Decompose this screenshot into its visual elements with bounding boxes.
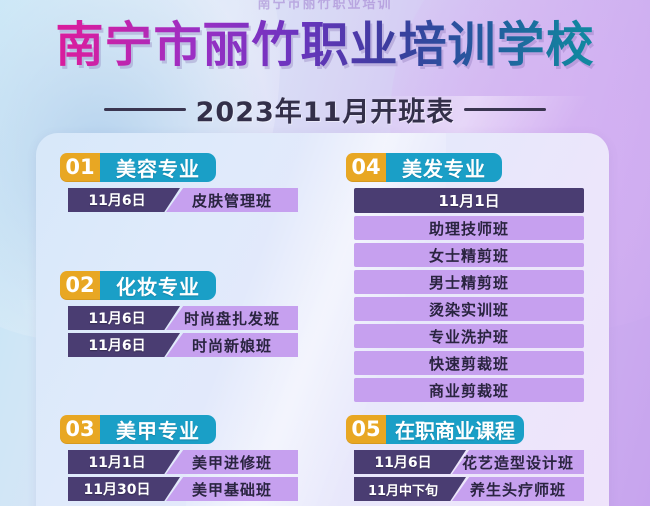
- table-row[interactable]: 11月6日 时尚盘扎发班: [68, 306, 298, 330]
- section-01: 01 美容专业 11月6日 皮肤管理班: [60, 153, 312, 215]
- row-course: 美甲基础班: [166, 477, 298, 501]
- section-04: 04 美发专业 11月1日 助理技师班 女士精剪班 男士精剪班 烫染实训班 专业…: [346, 153, 598, 405]
- section-05: 05 在职商业课程 11月6日 花艺造型设计班 11月中下旬 养生头疗师班: [346, 415, 598, 504]
- row-course: 花艺造型设计班: [452, 450, 584, 474]
- table-row[interactable]: 11月中下旬 养生头疗师班: [354, 477, 584, 501]
- list-item[interactable]: 女士精剪班: [354, 243, 584, 267]
- section-01-number: 01: [60, 153, 100, 182]
- list-item[interactable]: 烫染实训班: [354, 297, 584, 321]
- subtitle-group: 2023年11月开班表: [0, 90, 650, 129]
- row-date: 11月30日: [68, 477, 180, 501]
- list-item[interactable]: 快速剪裁班: [354, 351, 584, 375]
- row-date: 11月6日: [68, 306, 180, 330]
- row-course: 时尚盘扎发班: [166, 306, 298, 330]
- list-item[interactable]: 商业剪裁班: [354, 378, 584, 402]
- table-row[interactable]: 11月1日 美甲进修班: [68, 450, 298, 474]
- list-item[interactable]: 男士精剪班: [354, 270, 584, 294]
- row-date: 11月6日: [68, 188, 180, 212]
- section-03-number: 03: [60, 415, 100, 444]
- section-02-rows: 11月6日 时尚盘扎发班 11月6日 时尚新娘班: [60, 306, 312, 357]
- section-04-rows: 11月1日 助理技师班 女士精剪班 男士精剪班 烫染实训班 专业洗护班 快速剪裁…: [346, 188, 598, 402]
- page-title: 南宁市丽竹职业培训学校: [0, 16, 650, 74]
- row-course: 美甲进修班: [166, 450, 298, 474]
- row-date: 11月中下旬: [354, 477, 466, 501]
- section-03-title: 美甲专业: [100, 415, 216, 444]
- list-item[interactable]: 专业洗护班: [354, 324, 584, 348]
- section-05-number: 05: [346, 415, 386, 444]
- table-row[interactable]: 11月6日 时尚新娘班: [68, 333, 298, 357]
- row-course: 皮肤管理班: [166, 188, 298, 212]
- table-row[interactable]: 11月30日 美甲基础班: [68, 477, 298, 501]
- eyebrow-text: 南宁市丽竹职业培训: [0, 0, 650, 12]
- section-05-title: 在职商业课程: [386, 415, 524, 444]
- row-course: 养生头疗师班: [452, 477, 584, 501]
- list-item[interactable]: 助理技师班: [354, 216, 584, 240]
- section-05-rows: 11月6日 花艺造型设计班 11月中下旬 养生头疗师班: [346, 450, 598, 501]
- table-row[interactable]: 11月6日 皮肤管理班: [68, 188, 298, 212]
- row-course: 时尚新娘班: [166, 333, 298, 357]
- section-02: 02 化妆专业 11月6日 时尚盘扎发班 11月6日 时尚新娘班: [60, 271, 312, 360]
- row-date: 11月6日: [68, 333, 180, 357]
- section-01-header[interactable]: 01 美容专业: [60, 153, 312, 182]
- section-03-header[interactable]: 03 美甲专业: [60, 415, 312, 444]
- section-03-rows: 11月1日 美甲进修班 11月30日 美甲基础班: [60, 450, 312, 501]
- subtitle-text: 2023年11月开班表: [196, 90, 455, 129]
- schedule-panel: 01 美容专业 11月6日 皮肤管理班 02 化妆专业: [36, 133, 609, 506]
- poster-canvas: 南宁市丽竹职业培训 南宁市丽竹职业培训学校 2023年11月开班表 01 美容专…: [0, 0, 650, 506]
- section-01-title: 美容专业: [100, 153, 216, 182]
- section-04-number: 04: [346, 153, 386, 182]
- section-04-title: 美发专业: [386, 153, 502, 182]
- row-date: 11月6日: [354, 450, 466, 474]
- section-05-header[interactable]: 05 在职商业课程: [346, 415, 598, 444]
- section-03: 03 美甲专业 11月1日 美甲进修班 11月30日 美甲基础班: [60, 415, 312, 504]
- row-date: 11月1日: [68, 450, 180, 474]
- rule-left: [104, 108, 186, 111]
- section-02-number: 02: [60, 271, 100, 300]
- rule-right: [464, 108, 546, 111]
- section-04-header[interactable]: 04 美发专业: [346, 153, 598, 182]
- section-02-header[interactable]: 02 化妆专业: [60, 271, 312, 300]
- table-row[interactable]: 11月6日 花艺造型设计班: [354, 450, 584, 474]
- section-02-title: 化妆专业: [100, 271, 216, 300]
- group-date: 11月1日: [354, 188, 584, 213]
- section-01-rows: 11月6日 皮肤管理班: [60, 188, 312, 212]
